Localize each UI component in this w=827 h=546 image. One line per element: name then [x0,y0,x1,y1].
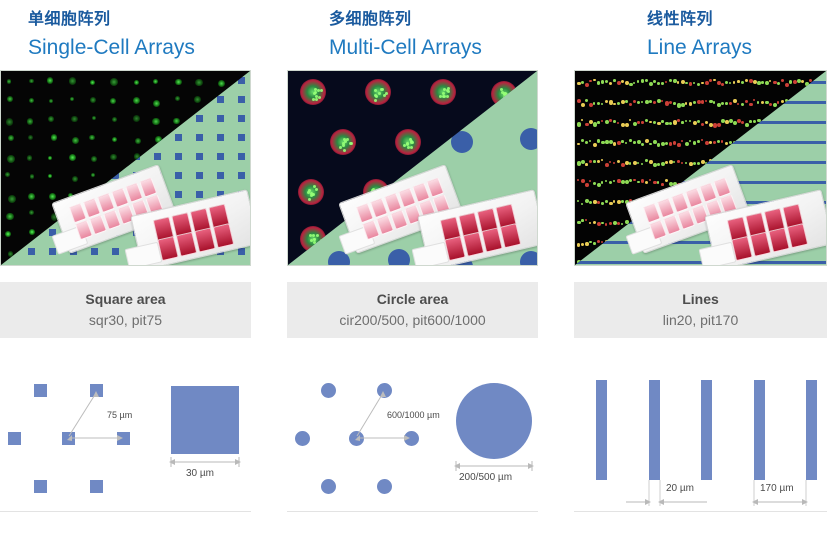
diagram-square-array: 75 µm 30 µm [0,360,251,512]
line-cell [777,101,779,103]
line-cell [629,139,632,142]
fluorescent-cell [110,154,117,161]
line-cell [721,102,724,105]
heading-english: Line Arrays [647,33,827,63]
line-cell [661,82,664,85]
line-cell [589,222,591,224]
line-cell [601,241,603,243]
line-cell [661,100,663,102]
caption-subtitle: lin20, pit170 [663,309,739,331]
line-cell [697,162,700,165]
line-cell [657,143,660,146]
pattern-square [217,134,224,141]
line-cell [589,160,592,163]
line-cell [609,82,612,85]
line-cell [601,120,603,122]
line-cell [665,142,668,145]
line-cell [581,243,584,246]
well [500,223,522,248]
line-cell [769,103,772,106]
cell-colony [430,79,456,105]
line-cell [581,119,583,121]
line-cell [777,82,780,85]
line-cell [605,100,608,103]
line-cell [697,140,700,143]
line-cell [589,80,592,83]
caption-title: Lines [682,289,719,309]
caption-subtitle: sqr30, pit75 [89,309,162,331]
line-cell [577,122,581,126]
line-cell [649,121,652,124]
line-cell [613,200,615,202]
heading-chinese: 多细胞阵列 [329,10,538,30]
well [194,227,216,252]
column-line: 线性阵列 Line Arrays [574,0,827,512]
fluorescent-cell [7,155,15,163]
line-cell [585,183,589,187]
fluorescent-cell [8,195,16,203]
line-cell [645,79,648,82]
photo-line [574,70,827,266]
cell-colony [298,179,324,205]
line-cell [701,139,703,141]
line-cell [689,140,691,142]
fluorescent-cell [112,117,117,122]
line-cell [593,221,596,224]
line-cell [585,219,587,221]
caption-line: Lines lin20, pit170 [574,282,827,338]
line-cell [581,203,583,205]
line-cell [693,141,696,144]
line-cell [681,162,683,164]
pattern-circle [520,128,538,150]
caption-single-cell: Square area sqr30, pit75 [0,282,251,338]
line-cell [713,79,716,82]
fluorescent-cell [194,96,201,103]
heading-multi-cell: 多细胞阵列 Multi-Cell Arrays [287,0,538,70]
pattern-square [238,115,245,122]
line-cell [597,160,600,163]
feature-label: 200/500 µm [459,472,512,483]
caption-subtitle: cir200/500, pit600/1000 [339,309,485,331]
line-cell [597,139,600,142]
line-cell [645,139,649,143]
heading-chinese: 线性阵列 [647,10,827,30]
fluorescent-cell [29,98,34,103]
fluorescent-cell [89,135,94,140]
line-cell [653,101,656,104]
line-cell [621,80,624,83]
line-cell [669,122,672,125]
line-cell [745,123,749,127]
line-cell [625,100,628,103]
line-cell [685,142,689,146]
fluorescent-cell [133,97,141,105]
line-cell [789,80,792,83]
line-cell [597,240,600,243]
fluorescent-cell [28,135,33,140]
product-slides-single-cell [57,176,251,262]
line-cell [609,161,611,163]
line-cell [741,81,744,84]
line-cell [705,100,707,102]
line-cell [601,181,603,183]
fluorescent-cell [92,116,97,121]
pattern-square [238,96,245,103]
pattern-square [175,134,182,141]
well [787,223,809,248]
line-cell [761,81,764,84]
line-cell [693,101,696,104]
line-cell [741,121,744,124]
line-cell [613,180,615,182]
line-cell [637,101,640,104]
line-cell [801,80,804,83]
cell-colony [395,129,421,155]
slide-label-tab [125,242,163,266]
line-cell [629,103,632,106]
line-cell [701,100,704,103]
line-cell [601,202,604,205]
line-cell [577,243,580,246]
line-cell [645,119,648,122]
line-cell [745,100,748,103]
fluorescent-cell [28,193,35,200]
line-cell [737,103,739,105]
fluorescent-cell [8,251,14,257]
line-cell [641,163,643,165]
line-cell [673,161,675,163]
heading-english: Single-Cell Arrays [28,33,251,63]
line-cell [589,241,592,244]
line-cell [597,121,600,124]
array-types-comparison-page: 单细胞阵列 Single-Cell Arrays [0,0,827,546]
line-cell [741,103,744,106]
well [444,236,466,261]
fluorescent-cell [195,79,202,86]
pattern-square [196,115,203,122]
well [463,232,485,257]
line-cell [593,160,596,163]
line-cell [625,123,629,127]
line-cell [809,79,812,82]
photo-single-cell [0,70,251,266]
line-cell [669,142,672,145]
line-cell [597,183,601,187]
fluorescent-cell [69,77,77,85]
line-cell [649,143,652,146]
line-cell [673,141,676,144]
fluorescent-cell [27,118,34,125]
line-cell [713,101,715,103]
cell-colony [300,79,326,105]
line-cell [701,82,704,85]
line-cell [641,101,643,103]
heading-line: 线性阵列 Line Arrays [574,0,827,70]
line-cell [585,163,588,166]
line-cell [633,141,636,144]
fluorescent-cell [218,80,225,87]
line-cell [677,143,681,147]
product-slides-line [631,176,827,262]
line-cell [781,79,784,82]
fluorescent-cell [48,174,52,178]
line-cell [581,219,584,222]
line-cell [637,80,639,82]
line-cell [657,163,660,166]
columns-row: 单细胞阵列 Single-Cell Arrays [0,0,827,512]
line-cell [581,139,584,142]
fluorescent-cell [153,79,158,84]
fluorescent-cell [48,156,53,161]
line-cell [581,81,584,84]
line-cell [593,182,596,185]
line-cell [657,122,661,126]
line-cell [681,140,683,142]
line-cell [601,159,603,161]
line-cell [669,79,672,82]
fluorescent-cell [29,210,34,215]
well [768,227,790,252]
line-cell [733,81,735,83]
caption-multi-cell: Circle area cir200/500, pit600/1000 [287,282,538,338]
line-cell [661,120,664,123]
fluorescent-cell [152,118,160,126]
line-cell [677,81,679,83]
line-cell [677,119,680,122]
line-cell [757,101,759,103]
pattern-square [217,153,224,160]
line-cell [601,103,603,105]
fluorescent-cell [8,135,14,141]
fluorescent-cell [47,77,53,83]
line-cell [593,242,596,245]
pattern-square [217,96,224,103]
line-cell [653,80,656,83]
pattern-square [28,248,35,255]
fluorescent-cell [5,231,11,237]
line-cell [577,221,581,225]
fluorescent-cell [49,193,56,200]
line-cell [749,120,752,123]
line-cell [685,102,687,104]
line-cell [617,222,620,225]
line-cell [593,143,597,147]
fluorescent-cell [90,80,95,85]
line-cell [613,79,616,82]
line-cell [597,81,600,84]
well [731,236,753,261]
line-cell [745,79,748,82]
fluorescent-cell [133,115,140,122]
pattern-square [49,248,56,255]
line-cell [589,201,592,204]
line-cell [617,102,620,105]
line-cell [721,83,724,86]
well [213,223,235,248]
line-cell [637,121,640,124]
diagram-circle-array: 600/1000 µm 200/500 µm [287,360,538,512]
pattern-square [175,153,182,160]
cell-colony [365,79,391,105]
fluorescent-cell [90,97,96,103]
line-cell [685,120,687,122]
line-cell [621,200,624,203]
column-single-cell: 单细胞阵列 Single-Cell Arrays [0,0,251,512]
line-cell [613,103,616,106]
line-cell [581,103,585,107]
line-cell [697,83,700,86]
line-cell [753,120,756,123]
line-cell [681,121,684,124]
fluorescent-cell [70,97,74,101]
fluorescent-cell [173,118,179,124]
line-cell [585,83,589,87]
fluorescent-cell [29,229,35,235]
line-cell [729,141,732,144]
line-cell [605,200,608,203]
caption-title: Square area [85,289,165,309]
fluorescent-cell [69,154,77,162]
line-cell [597,201,600,204]
line-cell [685,82,688,85]
line-cell [641,121,644,124]
line-cell [617,160,620,163]
line-cell [609,181,612,184]
line-cell [653,121,656,124]
line-cell [681,103,685,107]
line-cell [633,100,636,103]
pattern-square [154,153,161,160]
line-cell [577,200,579,202]
fluorescent-cell [134,80,139,85]
fluorescent-cell [7,96,13,102]
line-cell [629,83,633,87]
line-cell [641,79,644,82]
line-cell [729,102,732,105]
heading-single-cell: 单细胞阵列 Single-Cell Arrays [0,0,251,70]
line-cell [593,79,596,82]
line-cell [669,101,672,104]
fluorescent-cell [110,98,116,104]
line-cell [689,102,692,105]
line-cell [693,82,695,84]
line-cell [589,140,591,142]
line-cell [601,222,604,225]
line-cell [665,81,667,83]
fluorescent-cell [112,137,117,142]
feature-dimension-line [287,360,538,512]
well [176,232,198,257]
line-cell [613,120,616,123]
fluorescent-cell [110,78,118,86]
line-cell [725,81,728,84]
line-cell [725,142,728,145]
pattern-square [238,153,245,160]
line-cell [649,100,652,103]
line-cell [617,122,619,124]
line-cell [705,81,709,85]
line-width-label: 20 µm [666,483,694,494]
line-cell [613,162,615,164]
line-cell [605,163,609,167]
line-cell [757,81,761,85]
pattern-square [238,134,245,141]
photo-multi-cell [287,70,538,266]
line-cell [717,140,720,143]
fluorescent-cell [30,174,35,179]
line-cell [721,140,723,142]
line-cell [665,161,668,164]
cell-colony [330,129,356,155]
well [750,232,772,257]
line-cell [645,159,648,162]
feature-dimension-line [0,360,251,512]
fluorescent-cell [51,134,58,141]
line-cell [677,160,680,163]
fluorescent-cell [7,79,12,84]
pattern-square [196,134,203,141]
line-cell [689,120,691,122]
line-cell [593,102,595,104]
line-cell [685,162,687,164]
line-cell [761,101,764,104]
line-cell [717,123,721,127]
line-cell [709,141,712,144]
line-cell [689,82,692,85]
line-cell [577,99,581,103]
line-cell [585,99,588,102]
fluorescent-cell [48,116,54,122]
line-cell [597,102,600,105]
fluorescent-cell [175,96,180,101]
line-cell [673,102,676,105]
line-cell [621,223,623,225]
fluorescent-cell [6,118,13,125]
fluorescent-cell [29,79,33,83]
diagram-line-array: 20 µm 170 µm [574,360,827,512]
line-cell [781,100,784,103]
line-cell [601,80,604,83]
line-cell [701,123,704,126]
line-cell [693,162,696,165]
line-cell [705,121,708,124]
caption-title: Circle area [377,289,449,309]
line-cell [589,180,591,182]
line-pitch-label: 170 µm [760,483,794,494]
line-cell [633,82,635,84]
fluorescent-cell [5,172,10,177]
slide-label-tab [699,242,737,266]
line-cell [585,242,589,246]
line-cell [593,200,597,204]
heading-english: Multi-Cell Arrays [329,33,538,63]
line-cell [625,142,627,144]
line-cell [609,119,612,122]
line-cell [605,80,608,83]
line-cell [577,143,580,146]
line-cell [753,99,755,101]
line-cell [769,80,771,82]
slide-label-tab [412,242,450,266]
line-cell [729,82,731,84]
product-slides-multi-cell [344,176,538,262]
line-cell [657,82,660,85]
line-cell [613,142,616,145]
well [481,227,503,252]
line-cell [737,80,740,83]
line-cell [577,179,579,181]
